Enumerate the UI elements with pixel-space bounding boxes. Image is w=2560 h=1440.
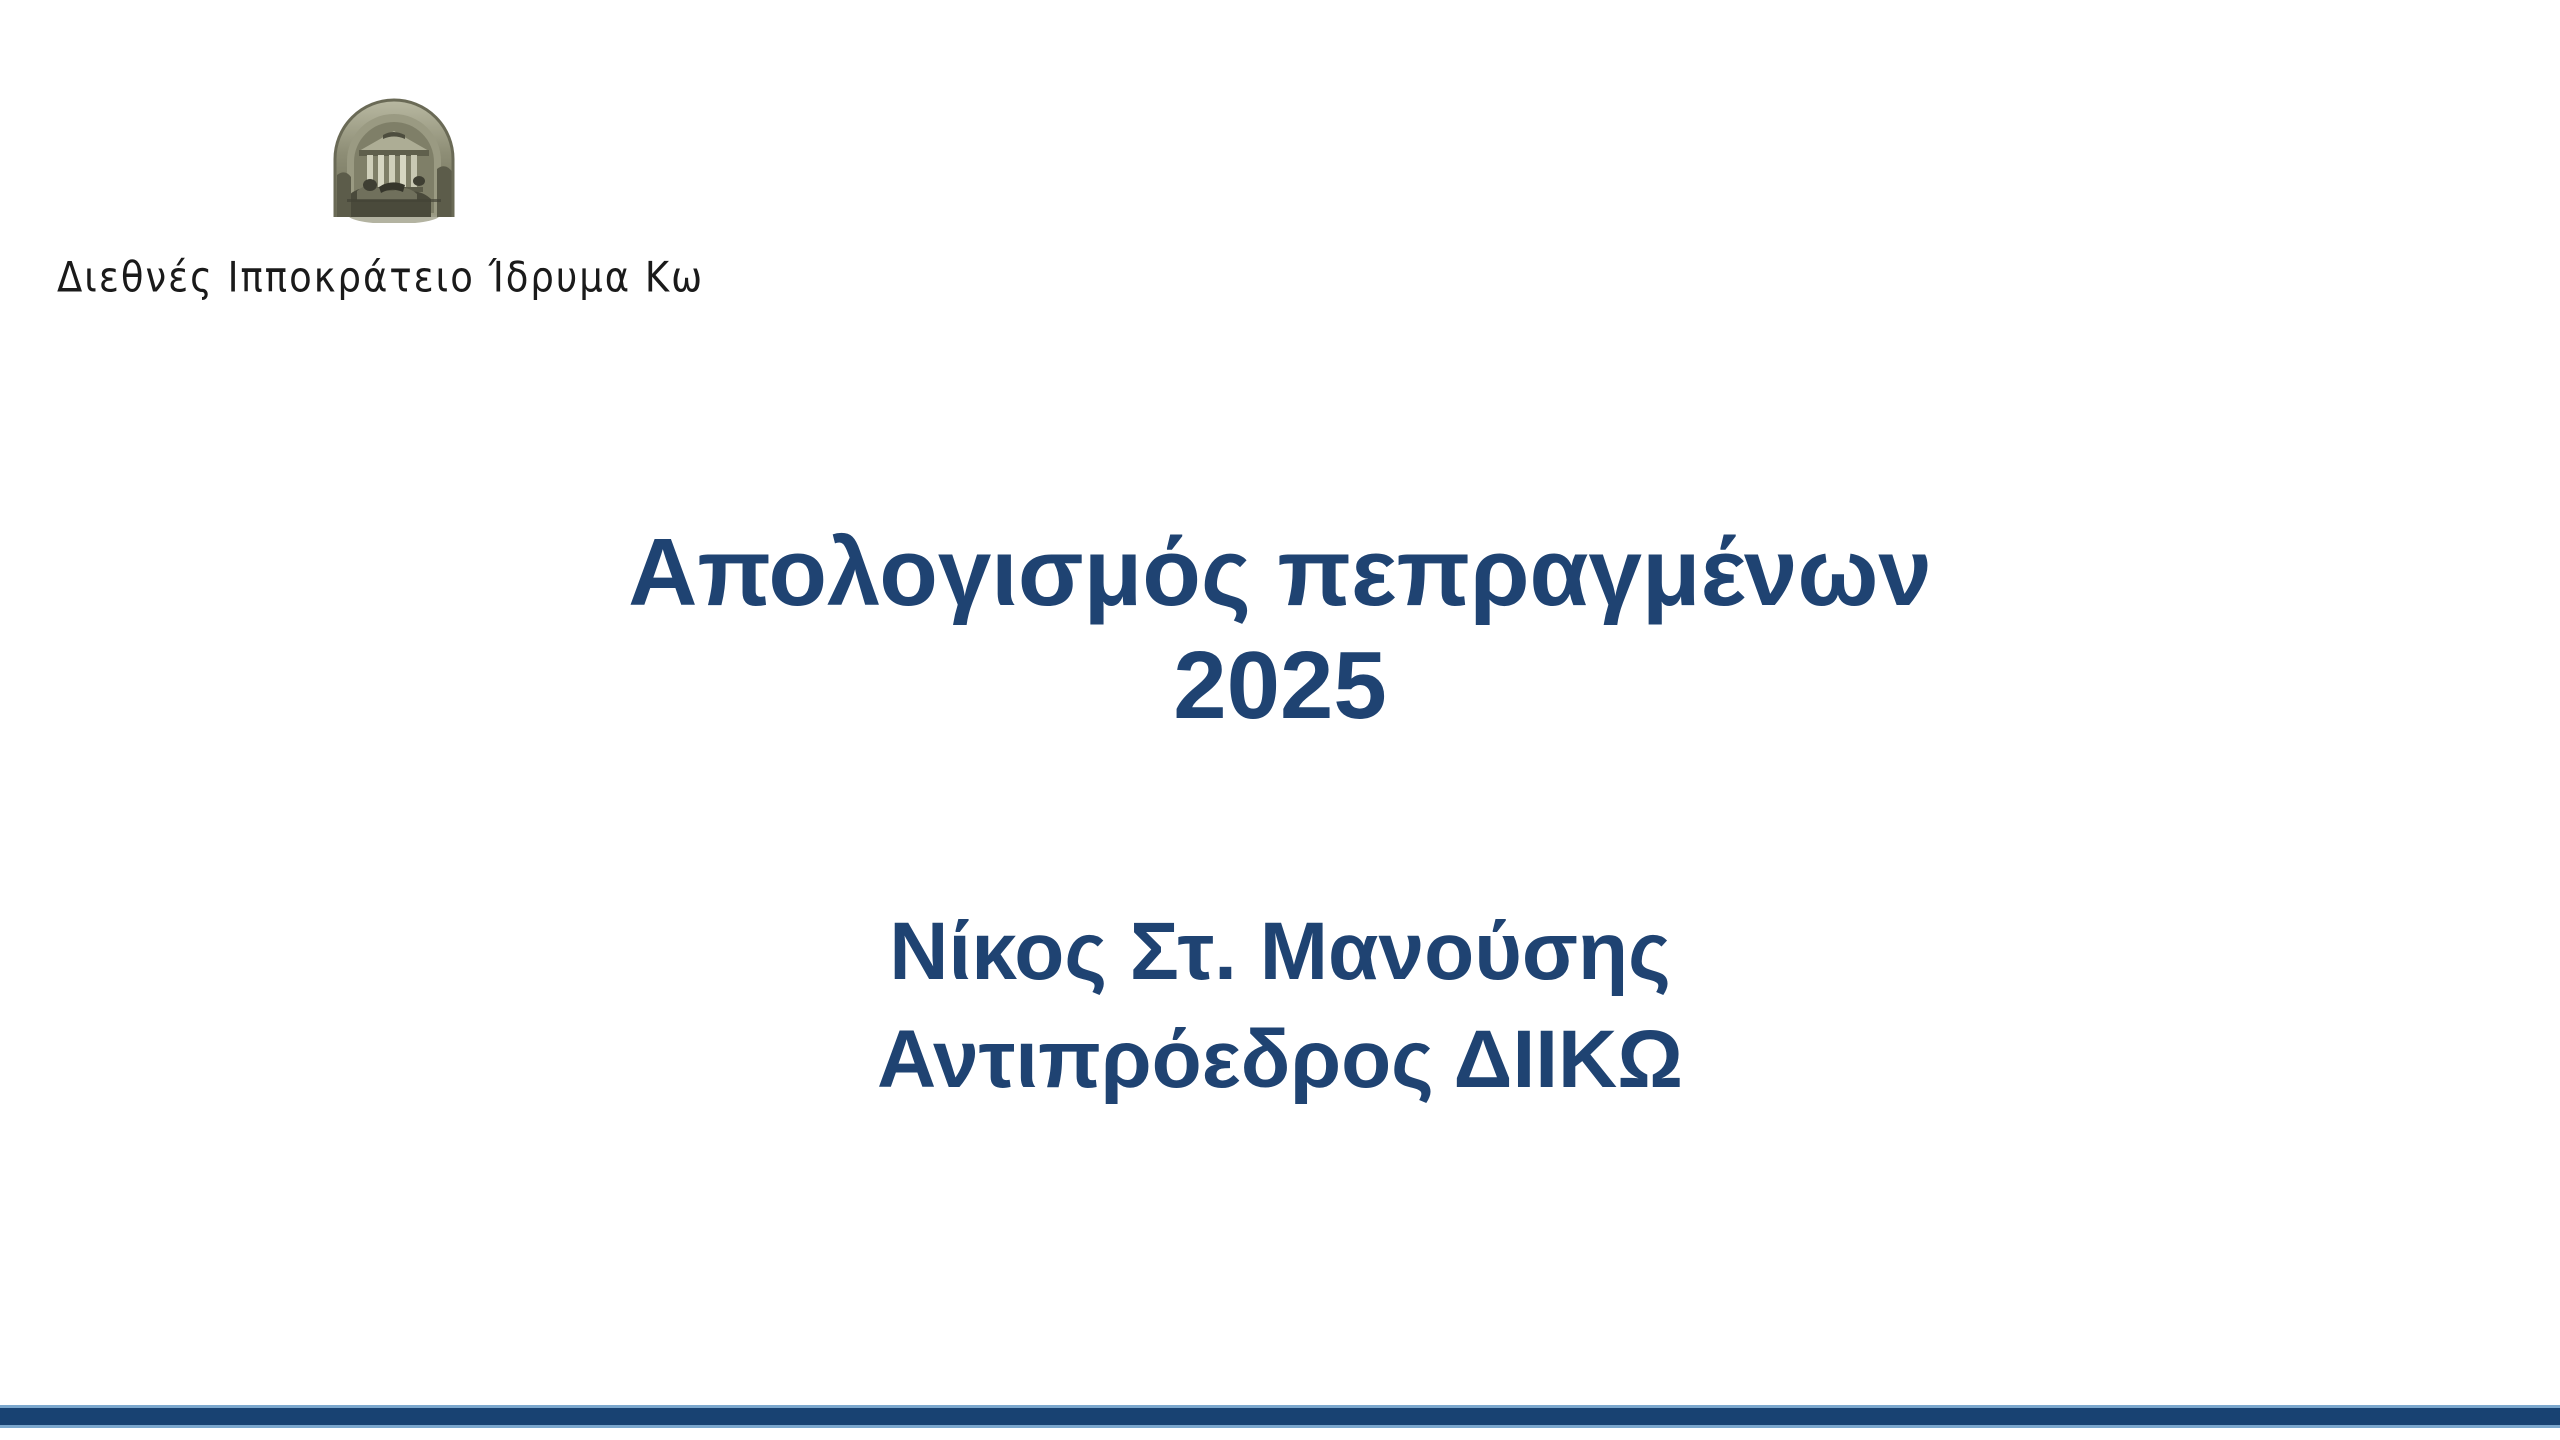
bottom-accent-rule — [0, 1405, 2560, 1428]
hippocratic-foundation-emblem-icon — [323, 95, 465, 223]
presenter-role: Αντιπρόεδρος ΔΙΙΚΩ — [0, 1006, 2560, 1114]
organisation-name-caption: Διεθνές Ιπποκράτειο Ίδρυμα Κω — [55, 257, 755, 298]
title-line-year: 2025 — [0, 629, 2560, 742]
organisation-logo: Διεθνές Ιπποκράτειο Ίδρυμα Κω — [55, 95, 755, 294]
rule-edge-bottom — [0, 1425, 2560, 1428]
title-line-subject: Απολογισμός πεπραγμένων — [0, 516, 2560, 629]
slide-title: Απολογισμός πεπραγμένων 2025 — [0, 516, 2560, 743]
emblem-container — [55, 95, 755, 225]
presenter-byline: Νίκος Στ. Μανούσης Αντιπρόεδρος ΔΙΙΚΩ — [0, 898, 2560, 1114]
presentation-title-slide: Διεθνές Ιπποκράτειο Ίδρυμα Κω Απολογισμό… — [0, 0, 2560, 1440]
rule-core — [0, 1408, 2560, 1425]
presenter-name: Νίκος Στ. Μανούσης — [0, 898, 2560, 1006]
